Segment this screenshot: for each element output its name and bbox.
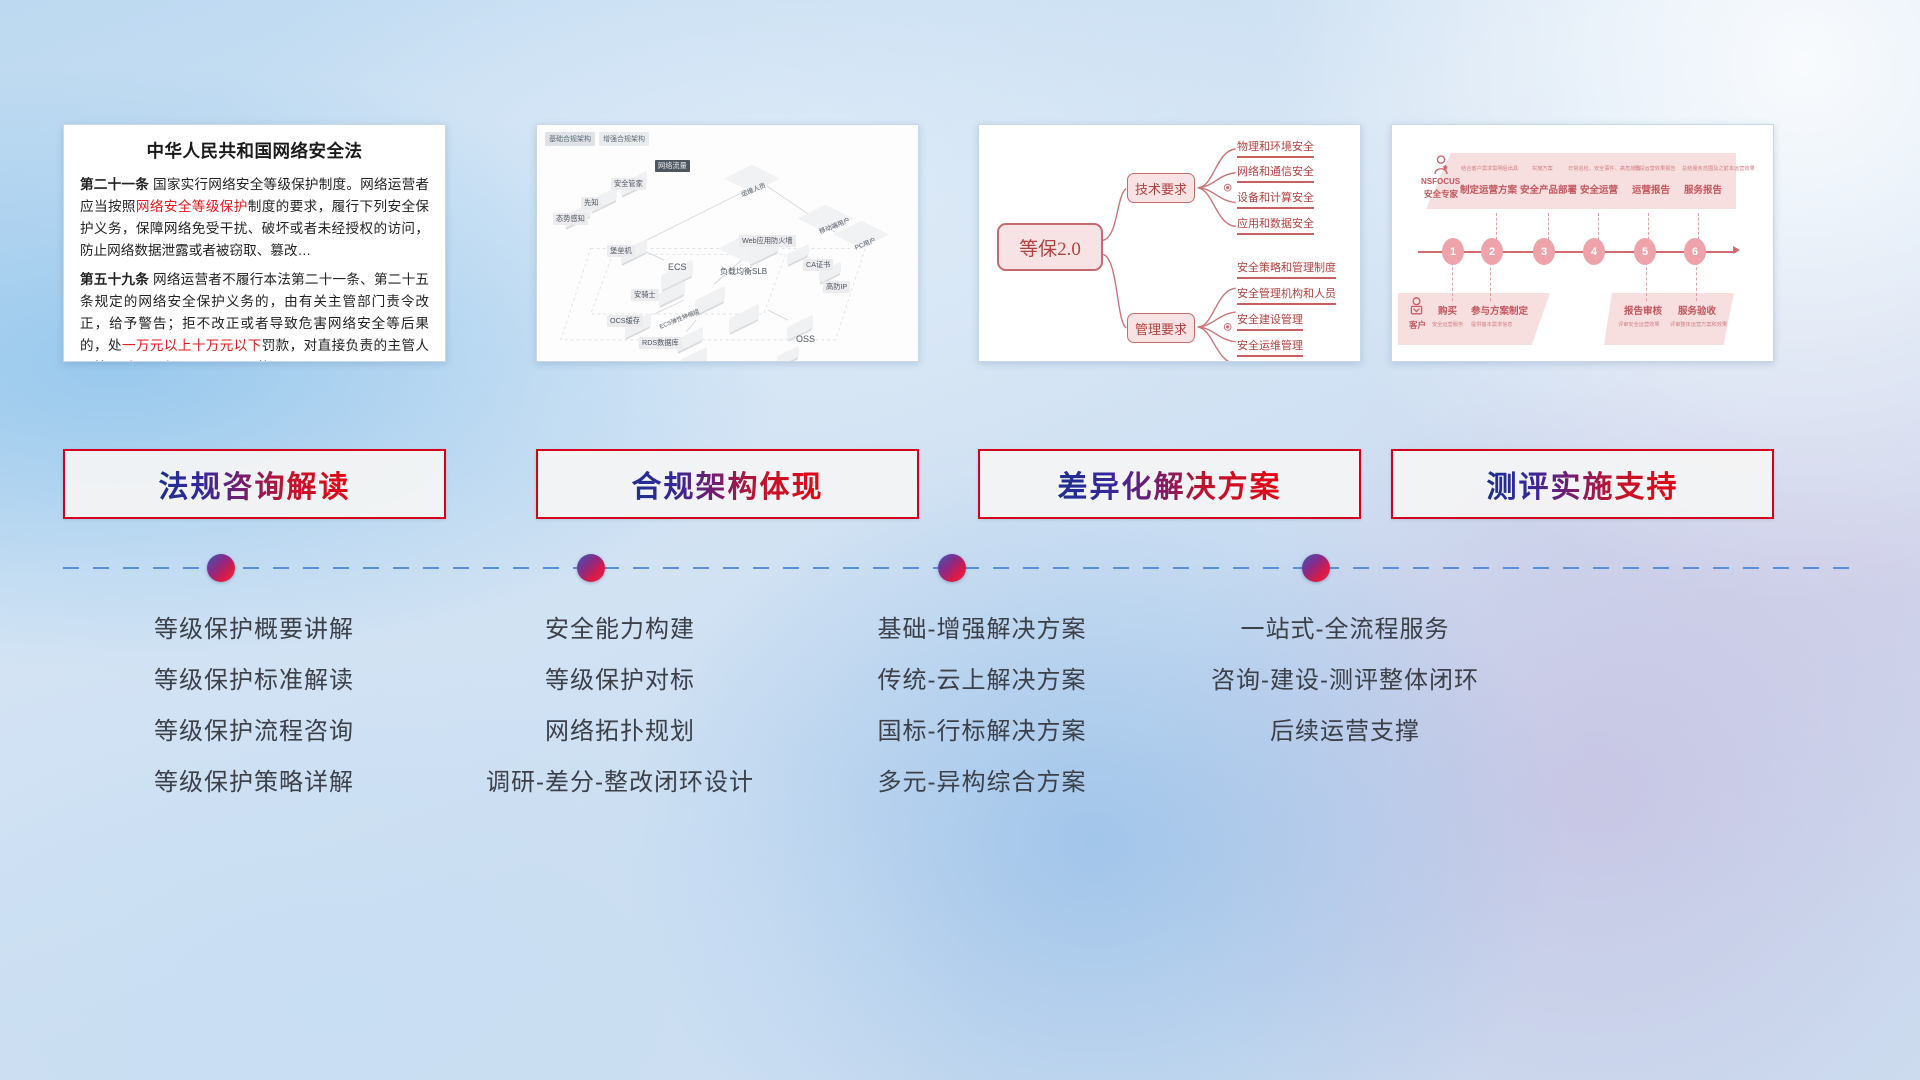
roadmap-expert-label-2: 安全专家 <box>1424 188 1458 200</box>
mindmap-leaf-network-comm: 网络和通信安全 <box>1237 163 1314 183</box>
roadmap-step-5: 5 <box>1634 238 1656 265</box>
title-label-3: 差异化解决方案 <box>1058 462 1282 506</box>
roadmap-top-sub-1: 结合客户需求需明后出具 <box>1461 165 1518 172</box>
mindmap-leaf-device-compute: 设备和计算安全 <box>1237 189 1314 209</box>
roadmap-top-title-5: 服务报告 <box>1684 182 1722 196</box>
roadmap-top-title-3: 安全运营 <box>1580 182 1618 196</box>
isometric-canvas: 网络流量 安全管家 先知 态势感知 堡垒机 ECS 安骑士 OCS缓存 RDS数… <box>537 125 918 361</box>
list-item: 传统-云上解决方案 <box>772 655 1192 706</box>
article-59-highlight-2: 五千元以上五万元以下 <box>107 360 243 362</box>
mindmap-diagram: 等保2.0 技术要求 管理要求 物理和环境安全 网络和通信安全 设备和计算安全 … <box>979 125 1360 361</box>
article-59-text-c: 罚款。 <box>243 360 284 362</box>
title-label-4: 测评实施支持 <box>1487 462 1679 506</box>
article-59-highlight-1: 一万元以上十万元以下 <box>122 338 262 353</box>
roadmap-axis-arrow-icon <box>1733 246 1740 254</box>
list-item: 等级保护策略详解 <box>44 757 464 808</box>
law-title: 中华人民共和国网络安全法 <box>80 138 429 163</box>
arch-label-ca-cert: CA证书 <box>803 259 833 271</box>
mindmap-branch-management: 管理要求 <box>1127 313 1195 343</box>
roadmap-bottom-title-2: 参与方案制定 <box>1471 303 1528 317</box>
list-item: 等级保护流程咨询 <box>44 706 464 757</box>
roadmap-top-sub-5: 总结服务范围及之前本运营效果 <box>1682 165 1755 172</box>
roadmap-step-4: 4 <box>1583 238 1605 265</box>
law-document: 中华人民共和国网络安全法 第二十一条 国家实行网络安全等级保护制度。网络运营者应… <box>64 125 445 362</box>
list-item: 安全能力构建 <box>410 604 830 655</box>
title-box-compliance-architecture[interactable]: 合规架构体现 <box>536 449 919 519</box>
timeline-dot-2 <box>577 554 605 582</box>
mindmap-leaf-org-personnel: 安全管理机构和人员 <box>1237 285 1336 305</box>
list-item: 一站式-全流程服务 <box>1135 604 1555 655</box>
roadmap-bottom-title-1: 购买 <box>1438 303 1457 317</box>
mindmap-leaf-physical-env: 物理和环境安全 <box>1237 138 1314 158</box>
timeline-dot-3 <box>938 554 966 582</box>
arch-label-security-butler: 安全管家 <box>611 178 646 190</box>
list-item: 后续运营支撑 <box>1135 706 1555 757</box>
card-service-roadmap[interactable]: NSFOCUS 安全专家 客户 <box>1391 124 1774 362</box>
arch-label-rds-db: RDS数据库 <box>639 337 682 349</box>
roadmap-bottom-sub-2: 提供基本需求信息 <box>1471 321 1513 328</box>
roadmap-bottom-sub-3: 评审安全运营效果 <box>1618 321 1660 328</box>
title-box-differentiated-solutions[interactable]: 差异化解决方案 <box>978 449 1361 519</box>
roadmap-step-2: 2 <box>1481 238 1503 265</box>
customer-icon <box>1408 297 1425 316</box>
list-item: 等级保护概要讲解 <box>44 604 464 655</box>
title-label-1: 法规咨询解读 <box>159 462 351 506</box>
arch-label-situational-awareness: 态势感知 <box>553 213 588 225</box>
list-item: 等级保护对标 <box>410 655 830 706</box>
timeline-dot-4 <box>1302 554 1330 582</box>
feature-lists-row: 等级保护概要讲解 等级保护标准解读 等级保护流程咨询 等级保护策略详解 安全能力… <box>0 604 1920 824</box>
roadmap-top-title-4: 运营报告 <box>1632 182 1670 196</box>
list-item: 国标-行标解决方案 <box>772 706 1192 757</box>
card-compliance-architecture[interactable]: 基础合规架构 增强合规架构 <box>536 124 919 362</box>
roadmap-step-3: 3 <box>1533 238 1555 265</box>
feature-list-4: 一站式-全流程服务 咨询-建设-测评整体闭环 后续运营支撑 <box>1135 604 1555 757</box>
arch-label-xianzhi: 先知 <box>581 197 601 209</box>
card-dengbao-mindmap[interactable]: 等保2.0 技术要求 管理要求 物理和环境安全 网络和通信安全 设备和计算安全 … <box>978 124 1361 362</box>
mindmap-leaf-ops-mgmt: 安全运维管理 <box>1237 337 1303 357</box>
law-article-21: 第二十一条 国家实行网络安全等级保护制度。网络运营者应当按照网络安全等级保护制度… <box>80 174 429 262</box>
list-item: 咨询-建设-测评整体闭环 <box>1135 655 1555 706</box>
card-cybersecurity-law[interactable]: 中华人民共和国网络安全法 第二十一条 国家实行网络安全等级保护制度。网络运营者应… <box>63 124 446 362</box>
roadmap-top-title-1: 制定运营方案 <box>1460 182 1517 196</box>
article-21-label: 第二十一条 <box>80 177 149 192</box>
feature-list-2: 安全能力构建 等级保护对标 网络拓扑规划 调研-差分-整改闭环设计 <box>410 604 830 808</box>
list-item: 等级保护标准解读 <box>44 655 464 706</box>
title-box-assessment-support[interactable]: 测评实施支持 <box>1391 449 1774 519</box>
arch-label-network-traffic: 网络流量 <box>655 160 690 172</box>
roadmap-step-6: 6 <box>1684 238 1706 265</box>
list-item: 基础-增强解决方案 <box>772 604 1192 655</box>
roadmap-bottom-band-right <box>1604 293 1734 345</box>
architecture-diagram: 基础合规架构 增强合规架构 <box>537 125 918 361</box>
roadmap-top-title-2: 安全产品部署 <box>1520 182 1577 196</box>
list-item: 多元-异构综合方案 <box>772 757 1192 808</box>
article-59-label: 第五十九条 <box>80 272 149 287</box>
roadmap-expert-label-1: NSFOCUS <box>1421 177 1460 186</box>
mindmap-root-node: 等保2.0 <box>997 223 1103 271</box>
arch-label-ecs: ECS <box>665 261 690 273</box>
timeline-dot-1 <box>207 554 235 582</box>
roadmap-bottom-sub-1: 安全运营服务 <box>1432 321 1463 328</box>
security-expert-icon <box>1432 155 1450 175</box>
title-label-2: 合规架构体现 <box>632 462 824 506</box>
roadmap-customer-label: 客户 <box>1409 319 1426 331</box>
arch-label-ocs-cache: OCS缓存 <box>607 315 643 327</box>
mindmap-leaf-construction-mgmt: 安全建设管理 <box>1237 311 1303 331</box>
arch-label-anti-ddos-ip: 高防IP <box>823 281 850 293</box>
feature-list-3: 基础-增强解决方案 传统-云上解决方案 国标-行标解决方案 多元-异构综合方案 <box>772 604 1192 808</box>
arch-label-waf: Web应用防火墙 <box>739 235 796 247</box>
roadmap-step-1: 1 <box>1442 238 1464 265</box>
list-item: 网络拓扑规划 <box>410 706 830 757</box>
roadmap-top-band <box>1426 153 1736 209</box>
arch-label-slb: 负载均衡SLB <box>717 265 770 278</box>
roadmap-top-sub-2: 实施方案 <box>1532 165 1553 172</box>
arch-label-anqishi: 安骑士 <box>631 289 659 301</box>
article-21-highlight: 网络安全等级保护 <box>136 199 248 214</box>
roadmap-bottom-title-3: 报告审核 <box>1624 303 1662 317</box>
law-article-59: 第五十九条 网络运营者不履行本法第二十一条、第二十五条规定的网络安全保护义务的，… <box>80 269 429 362</box>
roadmap-top-sub-4: 阶段运营效果报告 <box>1634 165 1676 172</box>
mindmap-leaf-app-data: 应用和数据安全 <box>1237 215 1314 235</box>
roadmap-top-sub-3: 日常巡检、安全事件、高危处置 <box>1568 165 1641 172</box>
roadmap-diagram: NSFOCUS 安全专家 客户 <box>1392 125 1773 361</box>
thumbnail-cards-row: 中华人民共和国网络安全法 第二十一条 国家实行网络安全等级保护制度。网络运营者应… <box>0 124 1920 364</box>
mindmap-branch-technical: 技术要求 <box>1127 173 1195 203</box>
arch-label-bastion-host: 堡垒机 <box>607 245 635 257</box>
section-title-row: 法规咨询解读 合规架构体现 差异化解决方案 测评实施支持 <box>0 449 1920 519</box>
roadmap-bottom-sub-4: 评审整体运营方案和效果 <box>1670 321 1727 328</box>
list-item: 调研-差分-整改闭环设计 <box>410 757 830 808</box>
arch-label-oss: OSS <box>793 333 818 345</box>
title-box-regulation-consulting[interactable]: 法规咨询解读 <box>63 449 446 519</box>
mindmap-leaf-security-policy: 安全策略和管理制度 <box>1237 259 1336 279</box>
roadmap-bottom-title-4: 服务验收 <box>1678 303 1716 317</box>
feature-list-1: 等级保护概要讲解 等级保护标准解读 等级保护流程咨询 等级保护策略详解 <box>44 604 464 808</box>
